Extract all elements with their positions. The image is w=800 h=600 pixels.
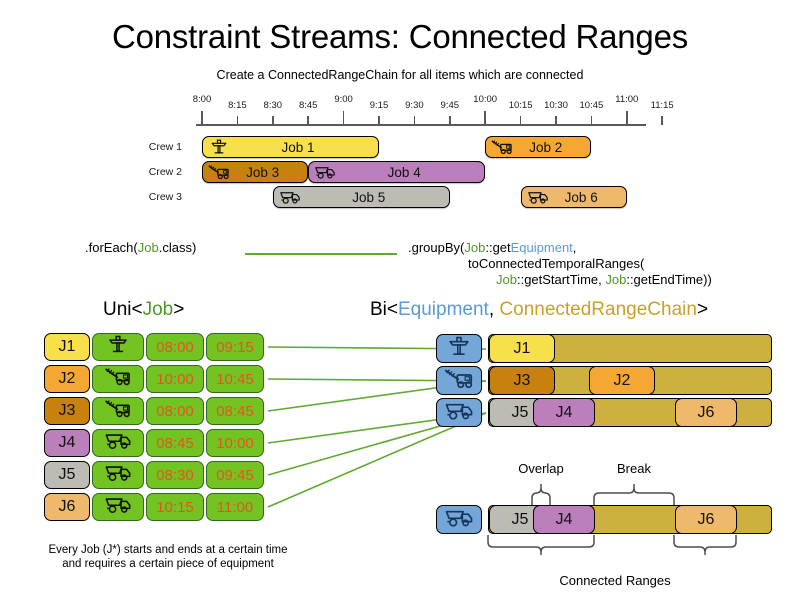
code-connector-line	[245, 253, 397, 255]
job-id-cell[interactable]: J2	[44, 365, 90, 393]
axis-tick	[484, 111, 486, 125]
job-start-cell[interactable]: 10:15	[146, 493, 204, 521]
groupby-job-type-3: Job	[605, 272, 626, 287]
caption-line-2: and requires a certain piece of equipmen…	[8, 557, 328, 571]
gantt-bar[interactable]: Job 6	[521, 186, 627, 208]
dump-truck-icon	[525, 188, 551, 206]
gantt-bar[interactable]: Job 3	[202, 161, 308, 183]
job-equipment-cell[interactable]	[92, 429, 144, 457]
axis-tick	[520, 116, 522, 125]
equipment-box[interactable]	[436, 334, 482, 363]
page-title: Constraint Streams: Connected Ranges	[0, 18, 800, 56]
foreach-expression: .forEach(Job.class)	[85, 240, 196, 255]
axis-tick	[378, 116, 380, 125]
crew-label: Crew 3	[112, 191, 182, 203]
foreach-post: .class)	[159, 240, 197, 255]
drill-rig-icon	[206, 138, 232, 156]
axis-tick-label: 8:45	[299, 100, 318, 111]
chain-segment-label: J6	[698, 404, 715, 422]
axis-tick-label: 10:45	[580, 100, 604, 111]
connected-range-chain[interactable]: J5J4J6	[488, 398, 772, 427]
axis-tick-label: 11:15	[651, 100, 674, 111]
job-start-cell[interactable]: 10:00	[146, 365, 204, 393]
slide-canvas: Constraint Streams: Connected Ranges Cre…	[0, 0, 800, 600]
uni-header-type: Job	[143, 299, 174, 320]
table-row[interactable]: J508:3009:45	[44, 460, 274, 490]
axis-tick-label: 9:15	[370, 100, 389, 111]
axis-tick-label: 9:45	[441, 100, 460, 111]
job-end-time: 10:00	[216, 435, 254, 452]
foreach-pre: .forEach(	[85, 240, 138, 255]
drill-rig-icon	[444, 336, 474, 362]
axis-tick-label: 8:30	[264, 100, 283, 111]
timeline-axis: 8:008:158:308:459:009:159:309:4510:0010:…	[0, 96, 800, 126]
crane-truck-icon	[104, 367, 132, 391]
table-row[interactable]: J210:0010:45	[44, 364, 274, 394]
crew-label: Crew 1	[112, 141, 182, 153]
job-start-time: 10:00	[156, 371, 194, 388]
axis-tick-label: 9:00	[334, 94, 353, 105]
dump-truck-icon	[312, 163, 338, 181]
axis-tick	[626, 111, 628, 125]
groupby-equipment-type: Equipment	[511, 240, 573, 255]
break-label: Break	[617, 461, 651, 476]
chain-segment-label: J1	[514, 340, 531, 358]
bi-chain-row[interactable]: J5J4J6	[436, 398, 776, 428]
axis-tick	[449, 116, 451, 125]
job-start-time: 08:00	[156, 339, 194, 356]
bi-header-pre: Bi<	[370, 299, 398, 320]
bi-chain-row[interactable]: J1	[436, 334, 776, 364]
crane-truck-icon	[104, 399, 132, 423]
job-end-time: 10:45	[216, 371, 254, 388]
page-subtitle: Create a ConnectedRangeChain for all ite…	[0, 68, 800, 82]
axis-tick-label: 8:00	[193, 94, 212, 105]
constraint-stream-code: .forEach(Job.class) .groupBy(Job::getEqu…	[0, 236, 800, 298]
job-equipment-cell[interactable]	[92, 397, 144, 425]
job-start-time: 10:15	[156, 499, 194, 516]
job-end-time: 09:45	[216, 467, 254, 484]
gantt-bar-label: Job 2	[515, 140, 590, 155]
groupby-expression: .groupBy(Job::getEquipment, toConnectedT…	[408, 240, 712, 288]
crane-truck-icon	[206, 163, 232, 181]
job-id-cell[interactable]: J4	[44, 429, 90, 457]
job-end-cell[interactable]: 11:00	[206, 493, 264, 521]
axis-tick	[555, 116, 557, 125]
groupby-pre: .groupBy(	[408, 240, 464, 255]
gantt-chart: Crew 1Crew 2Crew 3Job 1Job 2Job 3Job 4Jo…	[0, 132, 800, 212]
crew-label: Crew 2	[112, 166, 182, 178]
groupby-endtime: ::getEndTime))	[626, 272, 712, 287]
job-end-time: 08:45	[216, 403, 254, 420]
job-equipment-cell[interactable]	[92, 333, 144, 361]
bi-header-type-1: Equipment	[398, 299, 489, 320]
connected-ranges-detail: J5J4J6OverlapBreakConnected Ranges	[436, 505, 776, 537]
chain-segment-label: J3	[514, 372, 531, 390]
dump-truck-icon	[104, 495, 132, 519]
equipment-box[interactable]	[436, 366, 482, 395]
connected-range-chain[interactable]: J3J2	[488, 366, 772, 395]
crane-truck-icon	[489, 138, 515, 156]
job-end-cell[interactable]: 10:00	[206, 429, 264, 457]
overlap-brace	[532, 488, 550, 505]
job-equipment-cell[interactable]	[92, 493, 144, 521]
gantt-bar[interactable]: Job 5	[273, 186, 450, 208]
groupby-getter: ::get	[485, 240, 510, 255]
chain-segment[interactable]: J1	[489, 334, 555, 363]
job-id-cell[interactable]: J3	[44, 397, 90, 425]
drill-rig-icon	[104, 335, 132, 359]
uni-job-table: J108:0009:15J210:0010:45J308:0008:45J408…	[44, 332, 274, 524]
bi-header-sep: ,	[489, 299, 500, 320]
axis-tick	[272, 116, 274, 125]
bi-chain-row[interactable]: J3J2	[436, 366, 776, 396]
job-start-time: 08:30	[156, 467, 194, 484]
axis-tick-label: 10:30	[544, 100, 568, 111]
dump-truck-icon	[104, 431, 132, 455]
job-equipment-cell[interactable]	[92, 365, 144, 393]
chain-segment-label: J2	[614, 372, 631, 390]
gantt-bar-label: Job 4	[338, 165, 484, 180]
connected-ranges-label: Connected Ranges	[559, 573, 670, 588]
job-id-cell[interactable]: J1	[44, 333, 90, 361]
gantt-bar-label: Job 3	[232, 165, 307, 180]
table-row[interactable]: J610:1511:00	[44, 492, 274, 522]
table-row[interactable]: J108:0009:15	[44, 332, 274, 362]
uni-header: Uni<Job>	[103, 299, 184, 321]
axis-tick	[201, 111, 203, 125]
chain-segment-label: J5	[512, 404, 529, 422]
bi-header-type-2: ConnectedRangeChain	[499, 299, 697, 320]
gantt-bar[interactable]: Job 2	[485, 136, 591, 158]
job-end-cell[interactable]: 08:45	[206, 397, 264, 425]
axis-tick	[414, 116, 416, 125]
axis-tick-label: 10:15	[509, 100, 533, 111]
table-row[interactable]: J408:4510:00	[44, 428, 274, 458]
chain-segment-label: J4	[556, 404, 573, 422]
caption-line-1: Every Job (J*) starts and ends at a cert…	[8, 543, 328, 557]
axis-tick	[307, 116, 309, 125]
equipment-box[interactable]	[436, 398, 482, 427]
axis-tick-label: 10:00	[473, 94, 497, 105]
chain-segment[interactable]: J4	[533, 398, 595, 427]
job-end-cell[interactable]: 09:15	[206, 333, 264, 361]
axis-tick-label: 8:15	[228, 100, 247, 111]
connected-range-chain[interactable]: J1	[488, 334, 772, 363]
dump-truck-icon	[104, 463, 132, 487]
crane-truck-icon	[444, 368, 474, 394]
groupby-line-2: toConnectedTemporalRanges(	[408, 256, 712, 272]
job-end-time: 11:00	[217, 499, 253, 516]
job-start-time: 08:45	[156, 435, 194, 452]
job-end-cell[interactable]: 10:45	[206, 365, 264, 393]
groupby-line-1: .groupBy(Job::getEquipment,	[408, 240, 712, 256]
groupby-comma: ,	[573, 240, 577, 255]
range-brace-2	[674, 535, 736, 552]
job-id-cell[interactable]: J6	[44, 493, 90, 521]
bi-chain-rows: J1J3J2J5J4J6	[436, 334, 776, 430]
uni-header-pre: Uni<	[103, 299, 143, 320]
job-end-time: 09:15	[216, 339, 254, 356]
chain-segment[interactable]: J3	[489, 366, 555, 395]
chain-segment[interactable]: J6	[675, 398, 737, 427]
groupby-starttime: ::getStartTime,	[517, 272, 605, 287]
groupby-job-type: Job	[464, 240, 485, 255]
footer-caption: Every Job (J*) starts and ends at a cert…	[8, 543, 328, 571]
axis-baseline	[196, 124, 646, 126]
job-end-cell[interactable]: 09:45	[206, 461, 264, 489]
detail-braces	[436, 460, 776, 555]
table-row[interactable]: J308:0008:45	[44, 396, 274, 426]
gantt-bar-label: Job 1	[232, 140, 378, 155]
axis-tick	[661, 116, 663, 125]
groupby-line-3: Job::getStartTime, Job::getEndTime))	[408, 272, 712, 288]
job-equipment-cell[interactable]	[92, 461, 144, 489]
gantt-bar[interactable]: Job 4	[308, 161, 485, 183]
axis-tick	[237, 116, 239, 125]
job-start-cell[interactable]: 08:00	[146, 333, 204, 361]
groupby-job-type-2: Job	[496, 272, 517, 287]
range-brace-1	[488, 535, 594, 552]
break-brace	[594, 488, 674, 505]
job-start-cell[interactable]: 08:00	[146, 397, 204, 425]
axis-tick-label: 9:30	[405, 100, 424, 111]
dump-truck-icon	[444, 400, 474, 426]
gantt-bar-label: Job 5	[303, 190, 449, 205]
axis-tick	[343, 111, 345, 125]
uni-header-post: >	[173, 299, 184, 320]
bi-header-post: >	[697, 299, 708, 320]
axis-tick-label: 11:00	[615, 94, 638, 105]
overlap-label: Overlap	[518, 461, 564, 476]
job-start-cell[interactable]: 08:30	[146, 461, 204, 489]
bi-header: Bi<Equipment, ConnectedRangeChain>	[370, 299, 708, 321]
gantt-bar-label: Job 6	[551, 190, 626, 205]
axis-tick	[591, 116, 593, 125]
dump-truck-icon	[277, 188, 303, 206]
chain-segment[interactable]: J2	[589, 366, 655, 395]
job-id-cell[interactable]: J5	[44, 461, 90, 489]
job-start-time: 08:00	[156, 403, 194, 420]
foreach-type: Job	[138, 240, 159, 255]
job-start-cell[interactable]: 08:45	[146, 429, 204, 457]
gantt-bar[interactable]: Job 1	[202, 136, 379, 158]
